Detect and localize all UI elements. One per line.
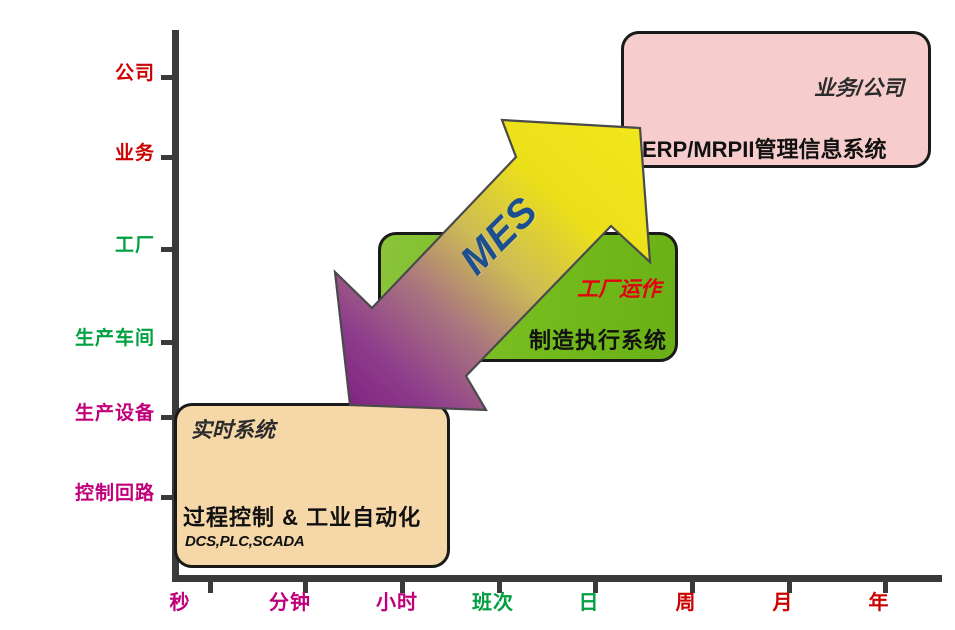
y-axis-tick [161,155,172,160]
mes-double-arrow-icon [310,100,680,470]
y-axis-tick [161,415,172,420]
x-axis-label-year: 年 [839,592,919,614]
x-axis-label-hour: 小时 [357,592,437,614]
y-axis-label-text: 生产设备 [75,404,155,423]
y-axis-label-text: 控制回路 [75,484,155,503]
x-axis-label-second: 秒 [140,592,220,614]
y-axis-label-text: 工厂 [115,236,155,255]
x-axis-label-week: 周 [646,592,726,614]
y-axis-label-text: 公司 [115,64,155,83]
x-axis-label-day: 日 [549,592,629,614]
x-axis-label-shift: 班次 [453,592,533,614]
y-axis-label-text: 业务 [115,144,155,163]
y-axis-tick [161,247,172,252]
control-box-subtitle: 实时系统 [191,420,275,442]
y-axis-tick [161,495,172,500]
y-axis-label-text: 生产车间 [75,329,155,348]
x-axis-line [172,575,942,582]
diagram-canvas: 公司 业务 工厂 生产车间 生产设备 控制回路 秒 分钟 小时 班次 日 周 月… [0,0,955,630]
x-axis-label-month: 月 [743,592,823,614]
x-axis-label-minute: 分钟 [250,592,330,614]
control-box-title: 过程控制 & 工业自动化 [183,506,421,530]
y-axis-tick [161,340,172,345]
control-box-systems: DCS,PLC,SCADA [185,534,304,550]
erp-box-subtitle: 业务/公司 [814,78,904,100]
y-axis-tick [161,75,172,80]
